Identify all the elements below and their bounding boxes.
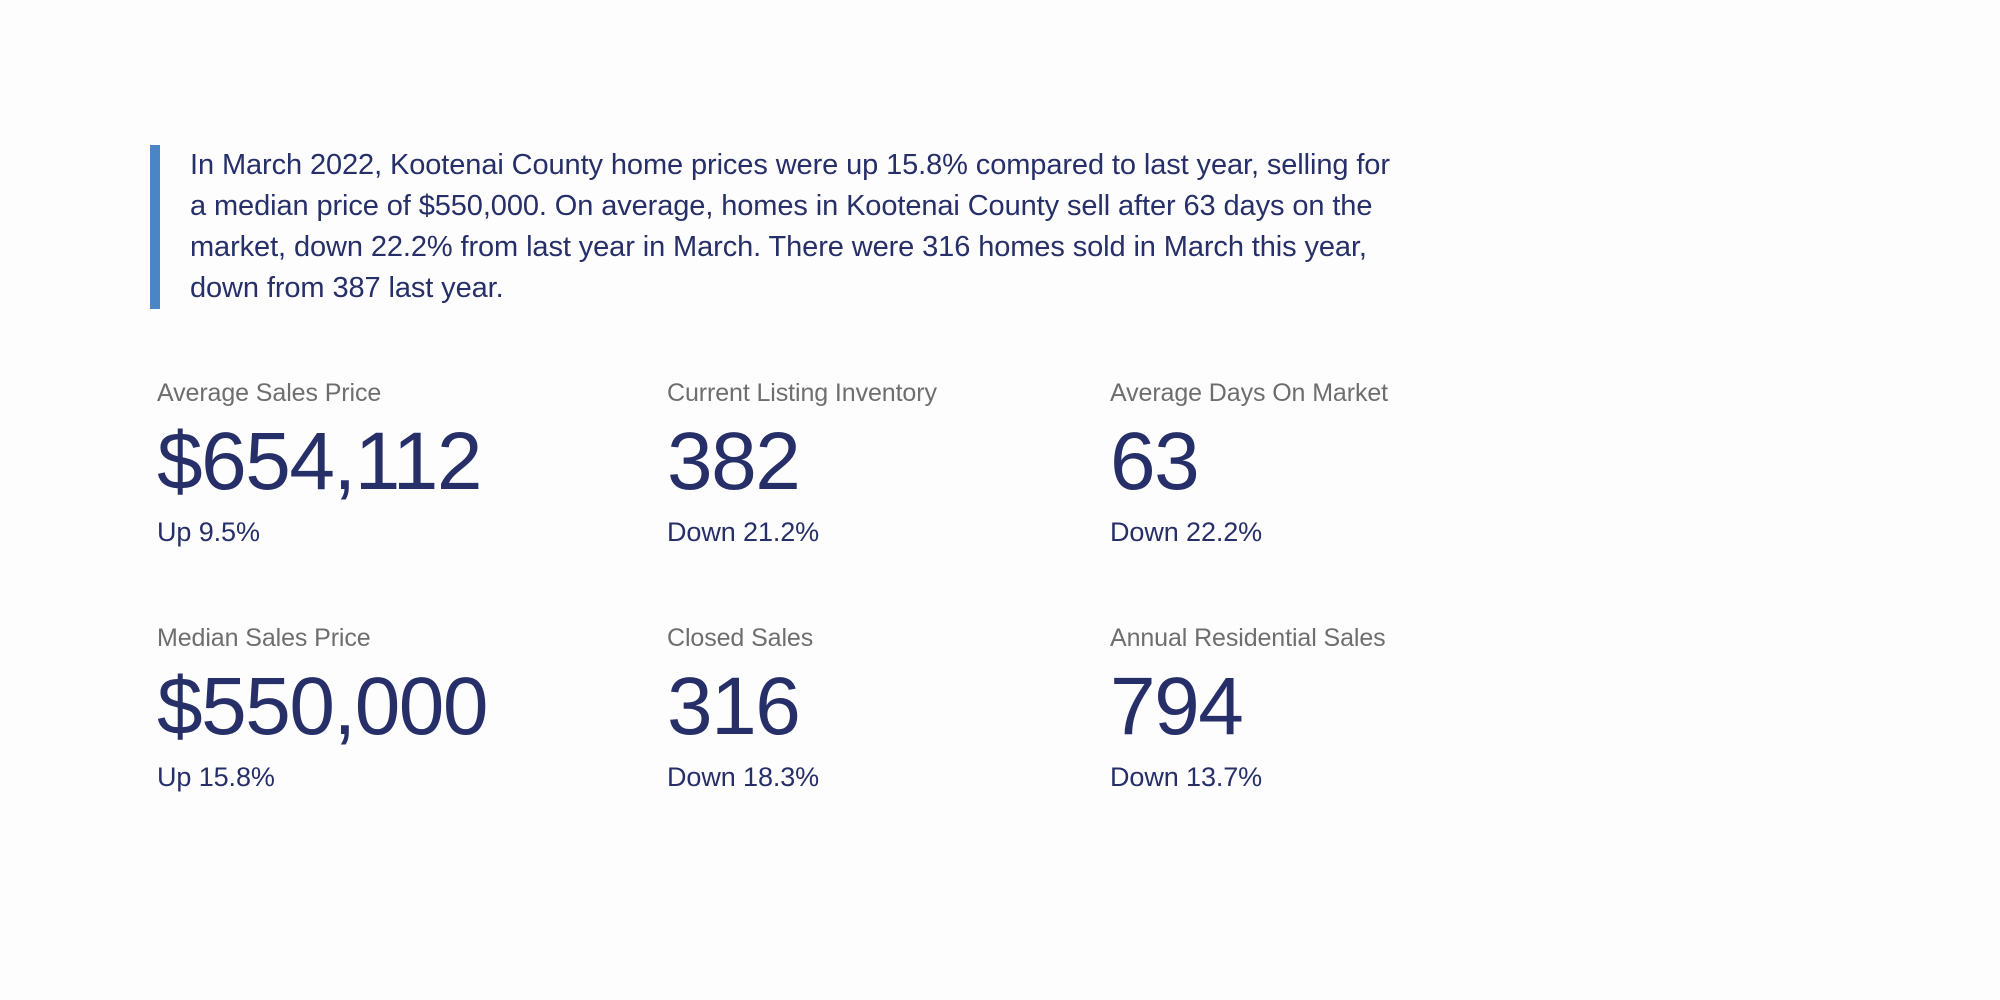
- stat-label: Current Listing Inventory: [667, 378, 1110, 408]
- market-report-page: In March 2022, Kootenai County home pric…: [0, 0, 2000, 1000]
- stat-delta: Up 9.5%: [157, 516, 667, 548]
- stat-label: Average Sales Price: [157, 378, 667, 408]
- stat-value: $654,112: [157, 418, 667, 506]
- stat-card-annual-residential-sales: Annual Residential Sales 794 Down 13.7%: [1110, 623, 1577, 868]
- stat-label: Median Sales Price: [157, 623, 667, 653]
- stat-value: 63: [1110, 418, 1577, 506]
- stat-card-closed-sales: Closed Sales 316 Down 18.3%: [667, 623, 1110, 868]
- stat-delta: Up 15.8%: [157, 761, 667, 793]
- market-summary-callout: In March 2022, Kootenai County home pric…: [150, 145, 1410, 309]
- stat-delta: Down 18.3%: [667, 761, 1110, 793]
- stat-value: 316: [667, 663, 1110, 751]
- stat-label: Annual Residential Sales: [1110, 623, 1577, 653]
- stat-value: $550,000: [157, 663, 667, 751]
- stat-delta: Down 13.7%: [1110, 761, 1577, 793]
- stat-card-average-days-on-market: Average Days On Market 63 Down 22.2%: [1110, 378, 1577, 623]
- stat-card-average-sales-price: Average Sales Price $654,112 Up 9.5%: [157, 378, 667, 623]
- stat-delta: Down 21.2%: [667, 516, 1110, 548]
- stat-label: Average Days On Market: [1110, 378, 1577, 408]
- statistics-grid: Average Sales Price $654,112 Up 9.5% Cur…: [157, 378, 1577, 868]
- stat-label: Closed Sales: [667, 623, 1110, 653]
- stat-value: 794: [1110, 663, 1577, 751]
- stat-card-median-sales-price: Median Sales Price $550,000 Up 15.8%: [157, 623, 667, 868]
- stat-value: 382: [667, 418, 1110, 506]
- market-summary-text: In March 2022, Kootenai County home pric…: [160, 145, 1410, 309]
- stat-delta: Down 22.2%: [1110, 516, 1577, 548]
- accent-bar: [150, 145, 160, 309]
- stat-card-current-listing-inventory: Current Listing Inventory 382 Down 21.2%: [667, 378, 1110, 623]
